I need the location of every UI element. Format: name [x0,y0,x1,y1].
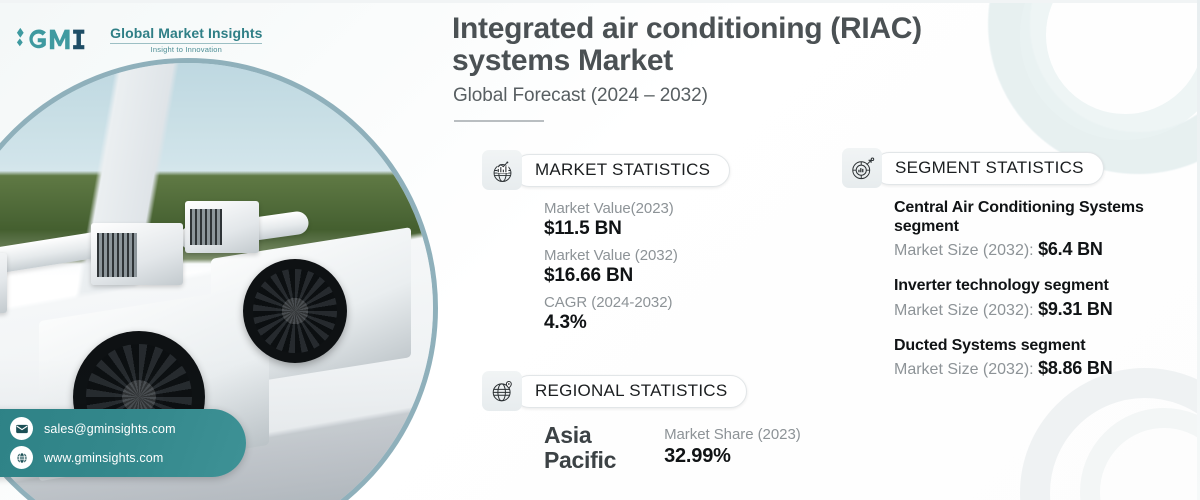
segment-metric: Market Size (2032): $9.31 BN [894,299,1189,320]
regional-statistics-body: Asia Pacific Market Share (2023) 32.99% [544,423,801,473]
regional-statistics-section: REGIONAL STATISTICS Asia Pacific Market … [482,371,801,473]
market-stat-label: Market Value (2032) [544,247,730,264]
segment-item: Central Air Conditioning Systems segment… [894,199,1189,260]
envelope-icon [10,417,33,440]
segment-name: Inverter technology segment [894,277,1189,296]
content-area: Integrated air conditioning (RIAC) syste… [452,0,1200,500]
market-stat-value: 4.3% [544,312,730,334]
market-stat-row: CAGR (2024-2032) 4.3% [544,294,730,334]
infographic-canvas: Global Market Insights Insight to Innova… [0,0,1200,500]
region-name: Asia Pacific [544,423,616,473]
globe-bar-chart-icon [482,150,522,190]
page-title: Integrated air conditioning (RIAC) syste… [452,13,1012,77]
logo-divider [110,43,262,44]
segment-metric-label: Market Size (2032): [894,302,1038,319]
market-stat-row: Market Value(2023) $11.5 BN [544,200,730,240]
market-statistics-header: MARKET STATISTICS [482,150,730,190]
segment-metric-value: $8.86 BN [1038,358,1112,378]
segment-item: Inverter technology segment Market Size … [894,277,1189,320]
region-share-block: Market Share (2023) 32.99% [664,423,801,468]
contact-website-text: www.gminsights.com [44,451,163,465]
logo-wordmark: Global Market Insights Insight to Innova… [110,26,262,54]
market-stat-label: Market Value(2023) [544,200,730,217]
logo-tagline: Insight to Innovation [110,46,262,54]
market-statistics-section: MARKET STATISTICS Market Value(2023) $11… [482,150,730,341]
segment-statistics-header: SEGMENT STATISTICS [842,148,1189,188]
title-divider [454,120,544,122]
segment-name: Ducted Systems segment [894,337,1189,356]
contact-email-row[interactable]: sales@gminsights.com [10,417,246,440]
market-stat-row: Market Value (2032) $16.66 BN [544,247,730,287]
market-stat-value: $11.5 BN [544,218,730,240]
regional-statistics-title: REGIONAL STATISTICS [513,375,747,408]
segment-metric-label: Market Size (2032): [894,361,1038,378]
regional-statistics-header: REGIONAL STATISTICS [482,371,801,411]
segment-statistics-section: SEGMENT STATISTICS Central Air Condition… [842,148,1189,396]
market-stat-value: $16.66 BN [544,265,730,287]
donut-chart-arrow-icon [842,148,882,188]
globe-pin-icon [482,371,522,411]
gmi-logo-icon [14,24,103,55]
segment-statistics-title: SEGMENT STATISTICS [873,152,1104,185]
market-statistics-title: MARKET STATISTICS [513,154,730,187]
segment-name: Central Air Conditioning Systems segment [894,199,1189,236]
segment-metric-label: Market Size (2032): [894,242,1038,259]
segment-metric-value: $9.31 BN [1038,299,1112,319]
region-share-value: 32.99% [664,445,801,468]
segment-metric: Market Size (2032): $6.4 BN [894,239,1189,260]
segment-metric-value: $6.4 BN [1038,239,1103,259]
segment-item: Ducted Systems segment Market Size (2032… [894,337,1189,380]
contact-website-row[interactable]: www.gminsights.com [10,446,246,469]
market-stat-label: CAGR (2024-2032) [544,294,730,311]
page-subtitle: Global Forecast (2024 – 2032) [453,85,708,107]
region-share-label: Market Share (2023) [664,426,801,443]
segment-statistics-body: Central Air Conditioning Systems segment… [894,199,1189,379]
contact-badge[interactable]: sales@gminsights.com www.gminsights.com [0,409,246,477]
market-statistics-body: Market Value(2023) $11.5 BN Market Value… [544,200,730,334]
brand-logo[interactable]: Global Market Insights Insight to Innova… [14,24,262,55]
contact-email-text: sales@gminsights.com [44,422,176,436]
globe-icon [10,446,33,469]
logo-company-name: Global Market Insights [110,26,262,40]
segment-metric: Market Size (2032): $8.86 BN [894,358,1189,379]
